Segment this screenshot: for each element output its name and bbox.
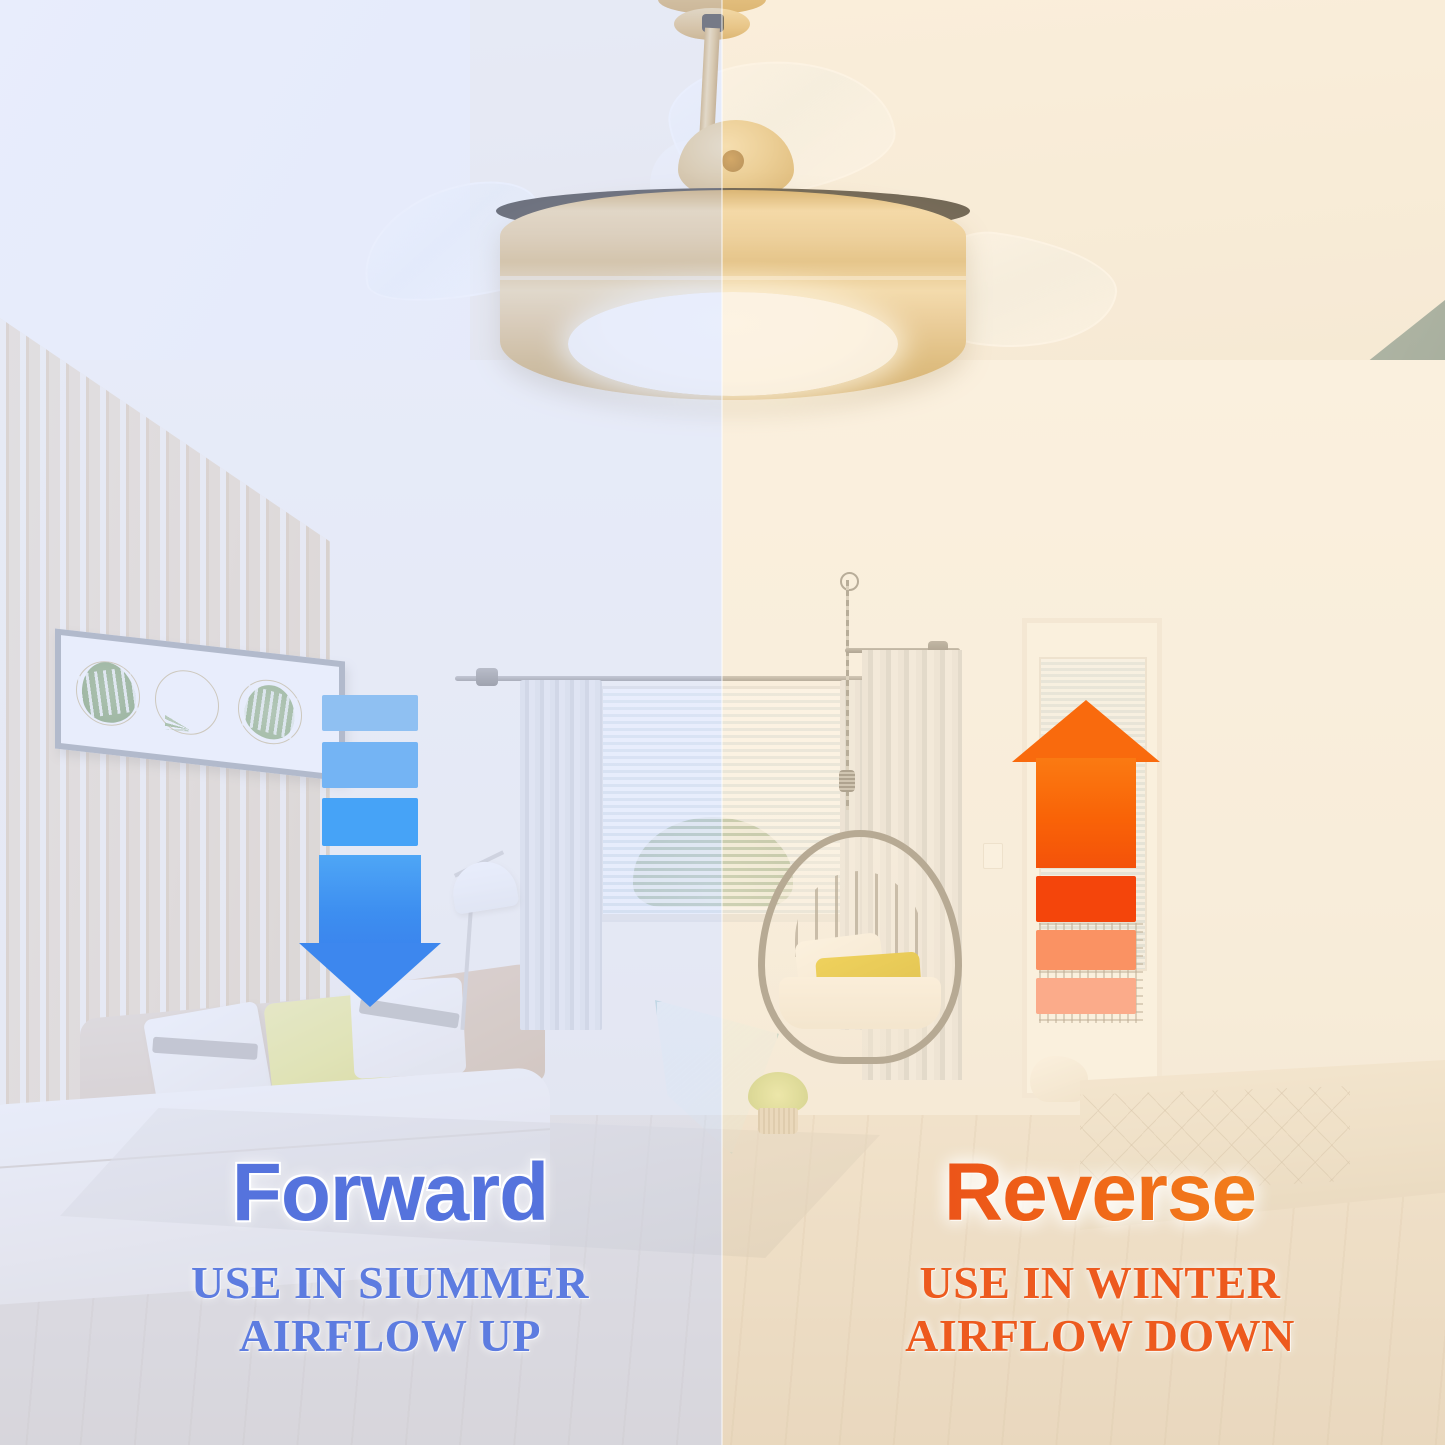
reverse-headline: Reverse [790,1152,1410,1234]
fan-motor-screw [722,150,744,172]
arrow-dash [1036,930,1136,970]
third-leaf-shape [241,679,300,745]
fan-palm-art [157,664,217,741]
arrow-dash [1036,978,1136,1014]
curtain-left [520,680,602,1030]
light-switch [983,843,1003,869]
airflow-arrow-up-icon [1030,700,1142,995]
arrow-dash [1036,876,1136,922]
fan-body-band [500,276,966,280]
forward-subtitle-line-2: AIRFLOW UP [80,1309,700,1362]
reverse-subtitle-line-2: AIRFLOW DOWN [790,1309,1410,1362]
panel-divider [721,0,723,1445]
egg-chair-seat-cushion [779,977,941,1029]
arrow-dash [322,742,418,788]
succulent-pot [758,1108,798,1134]
forward-subtitle-line-1: USE IN SIUMMER [80,1256,700,1309]
dog-figurine [1030,1056,1088,1102]
arrow-head [1012,700,1160,762]
product-comparison-image: Forward USE IN SIUMMER AIRFLOW UP Revers… [0,0,1445,1445]
forward-caption-block: Forward USE IN SIUMMER AIRFLOW UP [80,1152,700,1363]
fan-palm-shape [165,671,213,734]
arrow-shaft [1036,758,1136,868]
arrow-dash [322,798,418,846]
monstera-leaf-art [75,655,141,733]
forward-headline: Forward [80,1152,700,1234]
chain-hook [840,572,859,591]
forward-subtitle: USE IN SIUMMER AIRFLOW UP [80,1256,700,1363]
reverse-subtitle-line-1: USE IN WINTER [790,1256,1410,1309]
rod-finial [476,668,498,686]
reverse-subtitle: USE IN WINTER AIRFLOW DOWN [790,1256,1410,1363]
arrow-dash [322,695,418,731]
fan-led-light [568,292,898,396]
third-leaf-art [237,673,303,751]
reverse-caption-block: Reverse USE IN WINTER AIRFLOW DOWN [790,1152,1410,1363]
airflow-arrow-down-icon [315,695,425,985]
ceiling-fan [350,0,1110,432]
chain-coupler [839,770,855,792]
